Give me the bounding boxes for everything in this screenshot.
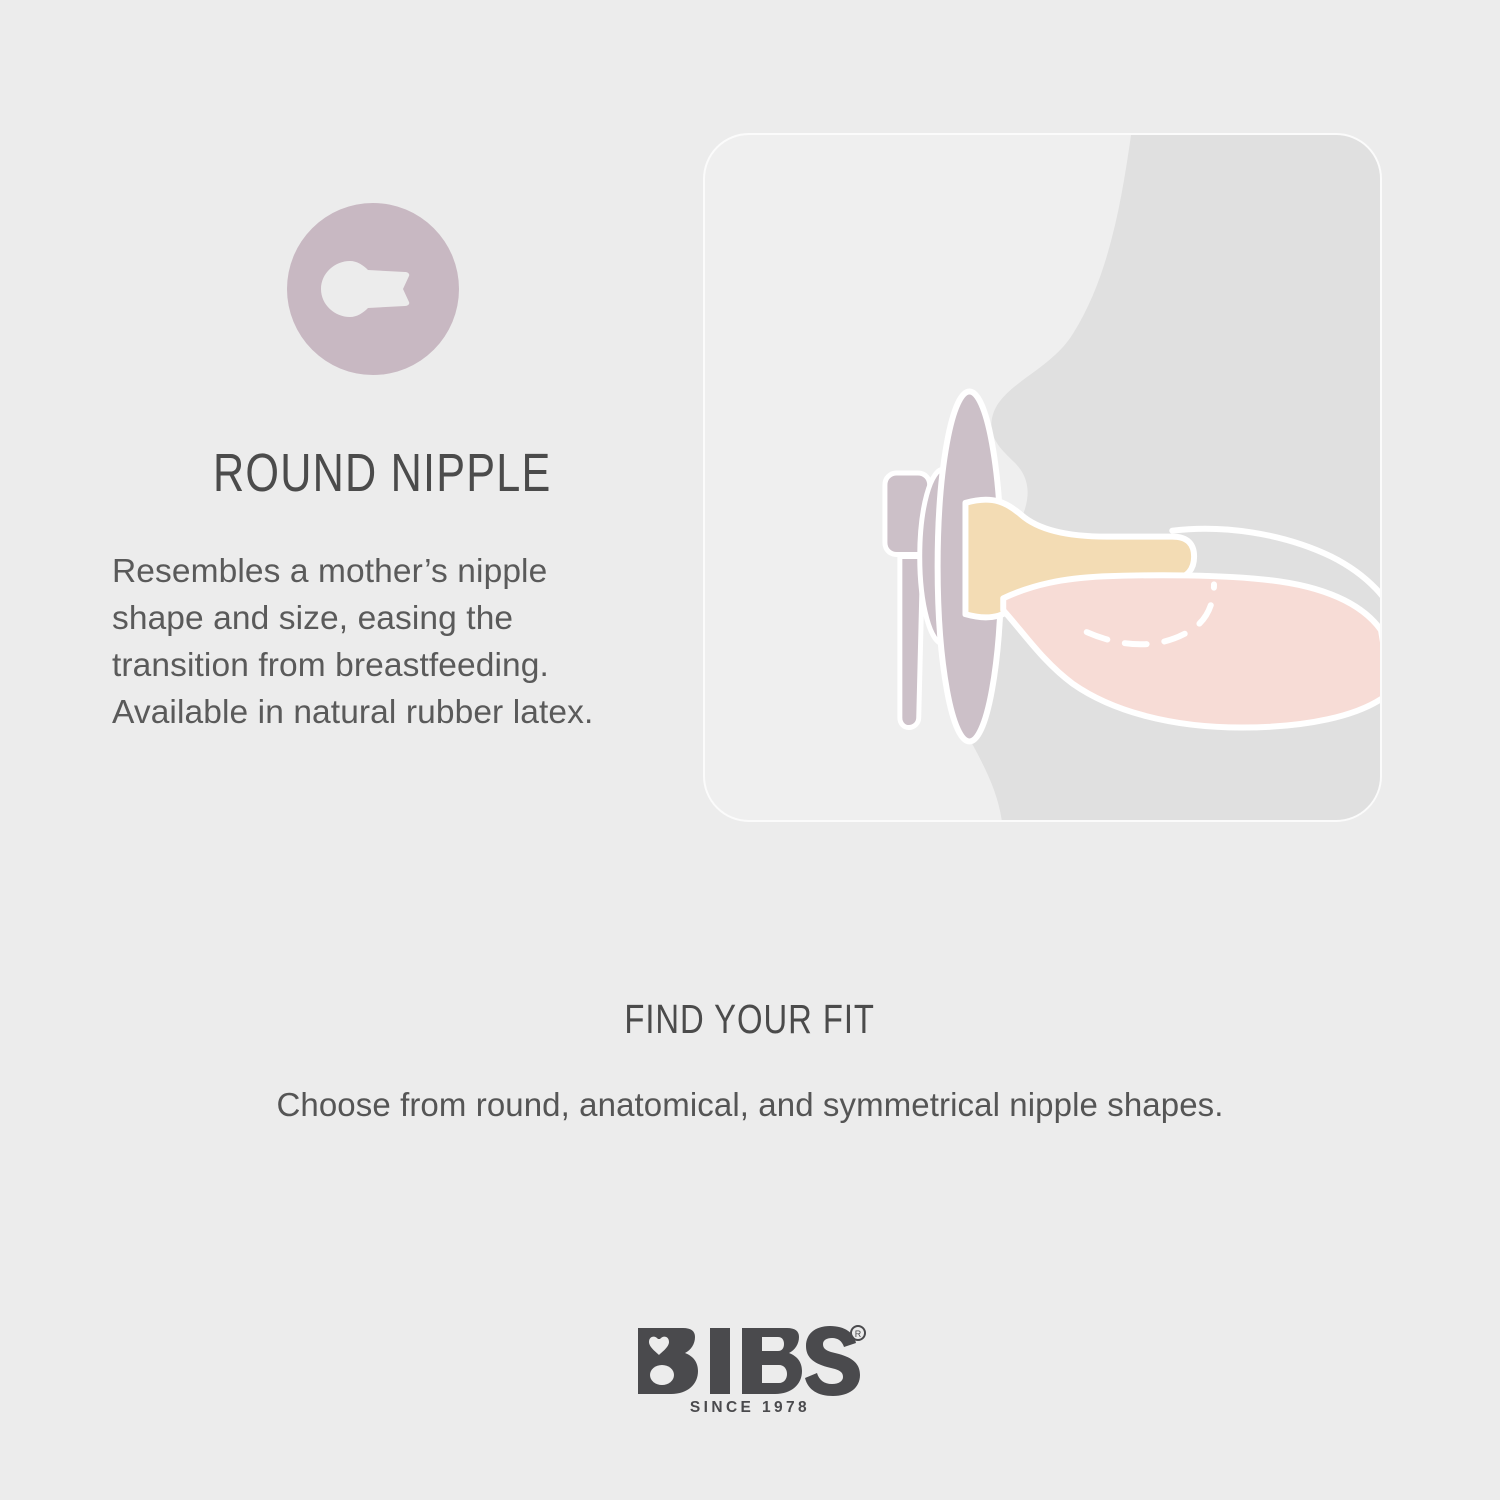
infographic-page: ROUND NIPPLE Resembles a mother’s nipple… xyxy=(0,0,1500,1500)
bibs-wordmark: R xyxy=(634,1325,866,1397)
find-your-fit-heading: FIND YOUR FIT xyxy=(0,996,1500,1043)
find-your-fit-heading-text: FIND YOUR FIT xyxy=(625,996,876,1043)
illustration-panel xyxy=(703,133,1382,822)
round-nipple-shape-icon xyxy=(287,203,459,375)
registered-trademark-icon: R xyxy=(851,1326,865,1340)
svg-text:R: R xyxy=(855,1329,862,1339)
find-your-fit-tagline: Choose from round, anatomical, and symme… xyxy=(0,1086,1500,1124)
pacifier-in-mouth-diagram xyxy=(705,135,1380,820)
feature-heading: ROUND NIPPLE xyxy=(213,443,551,503)
brand-tagline: SINCE 1978 xyxy=(0,1399,1500,1417)
brand-logo: R xyxy=(0,1325,1500,1402)
feature-description: Resembles a mother’s nipple shape and si… xyxy=(112,548,642,736)
